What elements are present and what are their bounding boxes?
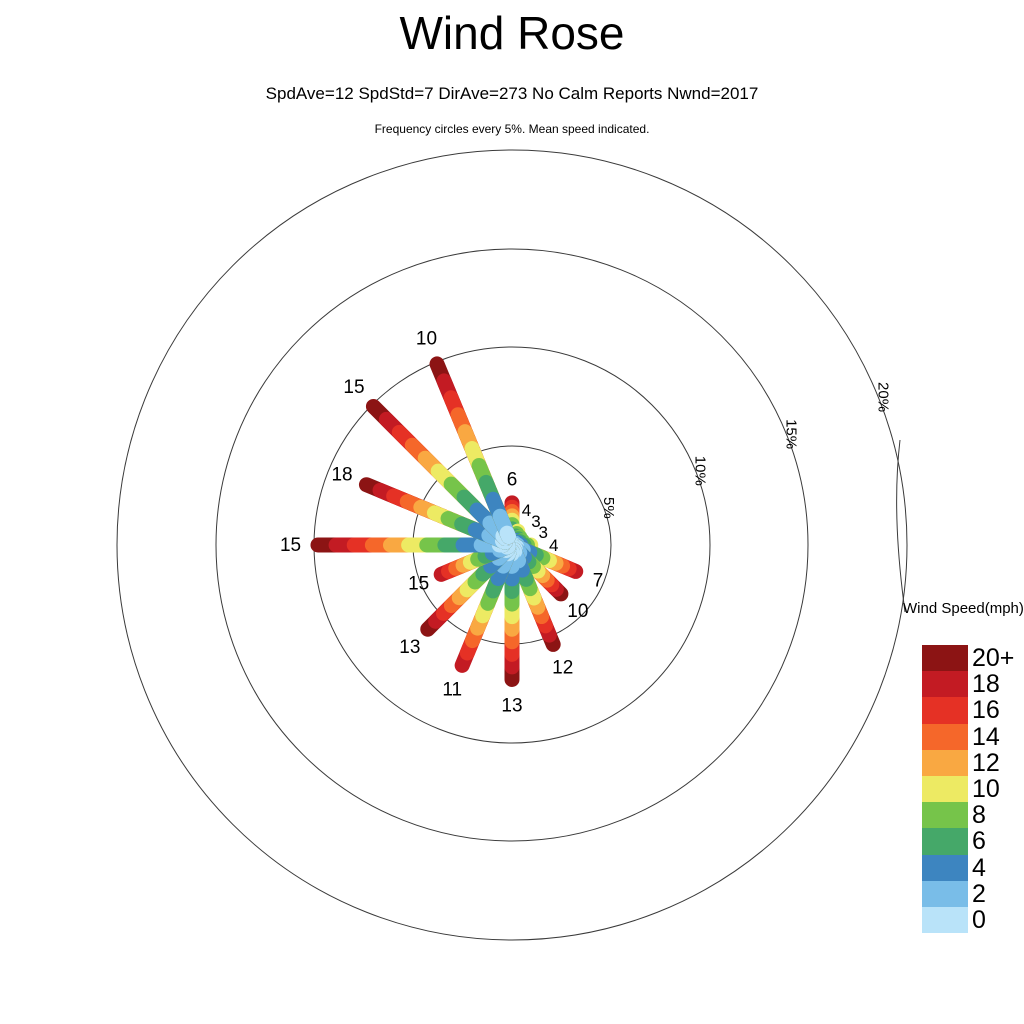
legend-color-12 — [922, 750, 968, 776]
legend-color-20+ — [922, 645, 968, 671]
petal-label-S: 13 — [501, 695, 522, 716]
legend-color-2 — [922, 881, 968, 907]
legend-label-20+: 20+ — [968, 645, 1024, 671]
petal-label-ENE: 3 — [539, 523, 548, 542]
petal-label-SW: 13 — [399, 637, 420, 658]
legend-color-4 — [922, 855, 968, 881]
ring-label-15: 15% — [782, 419, 799, 449]
petal-label-NW: 15 — [343, 377, 364, 398]
legend-color-10 — [922, 776, 968, 802]
legend-labels: 20+181614121086420 — [968, 645, 1024, 933]
legend-swatch-4 — [922, 855, 968, 881]
legend-color-6 — [922, 828, 968, 854]
wind-rose-chart: Wind Rose SpdAve=12 SpdStd=7 DirAve=273 … — [0, 0, 1024, 1024]
legend-label-14: 14 — [968, 724, 1024, 750]
legend-label-10: 10 — [968, 776, 1024, 802]
legend-label-2: 2 — [968, 881, 1024, 907]
legend-swatch-12 — [922, 750, 968, 776]
legend-label-12: 12 — [968, 750, 1024, 776]
legend-color-0 — [922, 907, 968, 933]
wind-rose-plot: 5%10%15%20% 64334710121311131515181510 — [0, 0, 1024, 1024]
legend-swatch-10 — [922, 776, 968, 802]
petal-label-SSW: 11 — [442, 679, 462, 700]
legend-swatch-14 — [922, 724, 968, 750]
petal-label-WNW: 18 — [331, 465, 352, 486]
ring-label-20: 20% — [874, 382, 891, 412]
legend-label-18: 18 — [968, 671, 1024, 697]
legend-swatch-6 — [922, 828, 968, 854]
legend-swatch-0 — [922, 907, 968, 933]
legend-swatch-2 — [922, 881, 968, 907]
legend-label-8: 8 — [968, 802, 1024, 828]
petal-NNW-bin-0 — [507, 533, 508, 536]
petal-label-SE: 10 — [567, 601, 588, 622]
legend-label-0: 0 — [968, 907, 1024, 933]
petal-label-NNW: 10 — [416, 329, 437, 350]
legend-label-6: 6 — [968, 828, 1024, 854]
petal-label-W: 15 — [280, 535, 301, 556]
ring-label-10: 10% — [692, 456, 709, 486]
legend-color-14 — [922, 724, 968, 750]
petal-label-SSE: 12 — [552, 658, 573, 679]
legend-title: Wind Speed(mph) — [903, 600, 1024, 617]
legend-color-18 — [922, 671, 968, 697]
legend-swatch-18 — [922, 671, 968, 697]
legend-label-16: 16 — [968, 697, 1024, 723]
petal-label-N: 6 — [507, 470, 518, 491]
petal-label-E: 4 — [549, 536, 558, 555]
ring-label-5: 5% — [600, 497, 617, 519]
legend-swatch-8 — [922, 802, 968, 828]
legend-leader-line — [897, 440, 905, 612]
legend-label-4: 4 — [968, 855, 1024, 881]
legend-color-8 — [922, 802, 968, 828]
petal-label-NNE: 4 — [522, 501, 531, 520]
petal-label-WSW: 15 — [408, 574, 429, 595]
ring-labels: 5%10%15%20% — [600, 382, 891, 519]
legend-swatch-16 — [922, 697, 968, 723]
legend-color-16 — [922, 697, 968, 723]
legend-swatch-20+ — [922, 645, 968, 671]
petal-label-ESE: 7 — [593, 571, 604, 592]
legend-swatches — [922, 645, 968, 933]
